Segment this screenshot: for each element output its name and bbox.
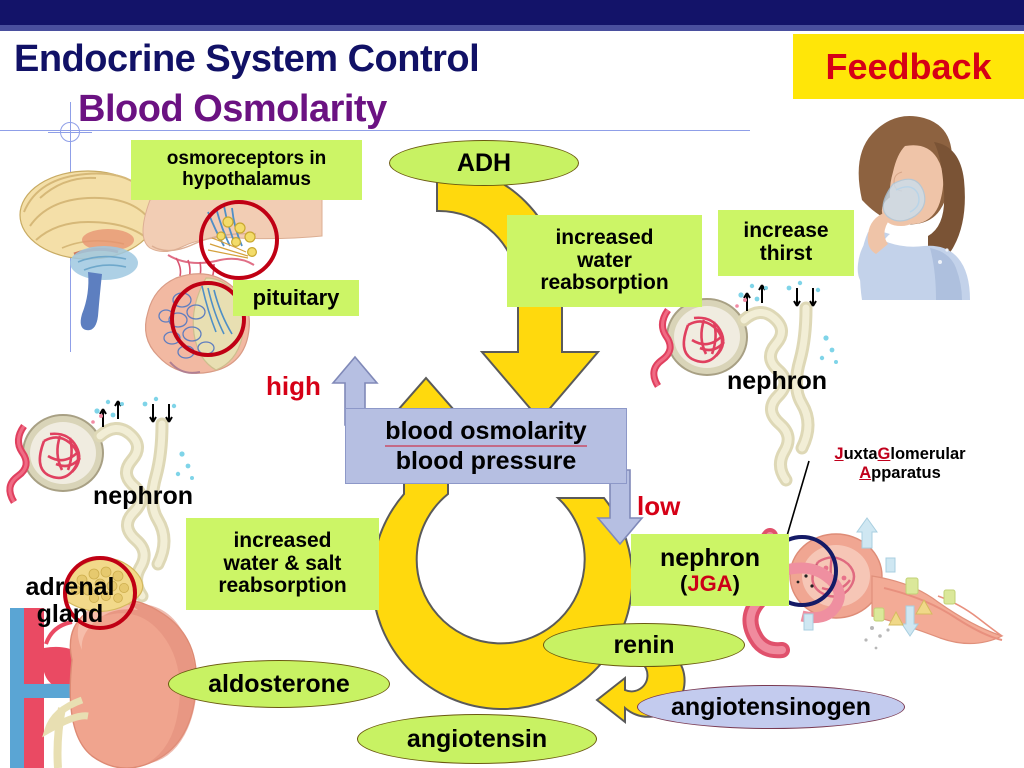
nephron-label-left: nephron	[93, 483, 243, 509]
jga-paren-close: )	[733, 571, 740, 596]
pituitary-box: pituitary	[233, 280, 359, 316]
jga-juxta-rest: uxta	[844, 445, 878, 463]
jga-g-letter: G	[878, 445, 891, 463]
page-subtitle: Blood Osmolarity	[78, 88, 387, 131]
nephron-jga-abbrev: (JGA)	[680, 572, 740, 596]
increase-thirst-label: increase thirst	[743, 220, 828, 265]
low-label: low	[637, 491, 680, 522]
nephron-label-right-text: nephron	[727, 367, 827, 395]
aldosterone-ellipse: aldosterone	[168, 660, 390, 708]
guide-line-horizontal	[0, 130, 750, 131]
jga-abbrev-text: JGA	[687, 571, 732, 596]
adh-ellipse-label: ADH	[457, 149, 511, 178]
angiotensin-ellipse: angiotensin	[357, 714, 597, 764]
angiotensinogen-ellipse: angiotensinogen	[637, 685, 905, 729]
osmoreceptors-box: osmoreceptors in hypothalamus	[131, 140, 362, 200]
angiotensinogen-ellipse-label: angiotensinogen	[671, 693, 871, 722]
adh-ellipse: ADH	[389, 140, 579, 186]
jga-callout: JuxtaGlomerular Apparatus	[786, 445, 1014, 484]
increased-water-reabsorption-label: increased water reabsorption	[540, 227, 668, 295]
renin-ellipse: renin	[543, 623, 745, 667]
adrenal-gland-label-text: adrenal gland	[26, 573, 115, 627]
nephron-jga-label: nephron	[660, 545, 760, 572]
increased-water-salt-reabsorption-label: increased water & salt reabsorption	[218, 530, 346, 598]
title-bar	[0, 0, 1024, 25]
nephron-jga-box: nephron (JGA)	[631, 534, 789, 606]
high-label-text: high	[266, 371, 321, 401]
nephron-label-right: nephron	[727, 368, 877, 394]
jga-a-letter: A	[859, 464, 871, 482]
nephron-label-left-text: nephron	[93, 482, 193, 510]
pituitary-box-label: pituitary	[253, 286, 340, 310]
increased-water-reabsorption-box: increased water reabsorption	[507, 215, 702, 307]
angiotensin-ellipse-label: angiotensin	[407, 725, 547, 754]
central-box-line-osmolarity: blood osmolarity	[385, 417, 586, 447]
title-bar-accent-strip	[0, 25, 1024, 31]
feedback-badge: Feedback	[793, 34, 1024, 99]
low-label-text: low	[637, 491, 680, 521]
renin-ellipse-label: renin	[613, 631, 674, 660]
aldosterone-ellipse-label: aldosterone	[208, 670, 350, 699]
increased-water-salt-reabsorption-box: increased water & salt reabsorption	[186, 518, 379, 610]
feedback-badge-label: Feedback	[825, 46, 991, 88]
central-box-line-pressure: blood pressure	[396, 447, 577, 475]
guide-anchor-tick-vertical	[70, 110, 71, 154]
high-label: high	[266, 371, 321, 402]
page-title: Endocrine System Control	[14, 38, 479, 81]
hypothalamus-highlight-circle	[199, 200, 279, 280]
woman-drinking-illustration	[858, 116, 970, 300]
osmoreceptors-box-label: osmoreceptors in hypothalamus	[167, 149, 326, 190]
jga-glomerular-rest: lomerular	[890, 445, 965, 463]
central-state-box: blood osmolarity blood pressure	[345, 408, 627, 484]
increase-thirst-box: increase thirst	[718, 210, 854, 276]
jga-j-letter: J	[834, 445, 843, 463]
jga-apparatus-rest: pparatus	[871, 464, 941, 482]
adrenal-gland-label: adrenal gland	[6, 548, 134, 627]
